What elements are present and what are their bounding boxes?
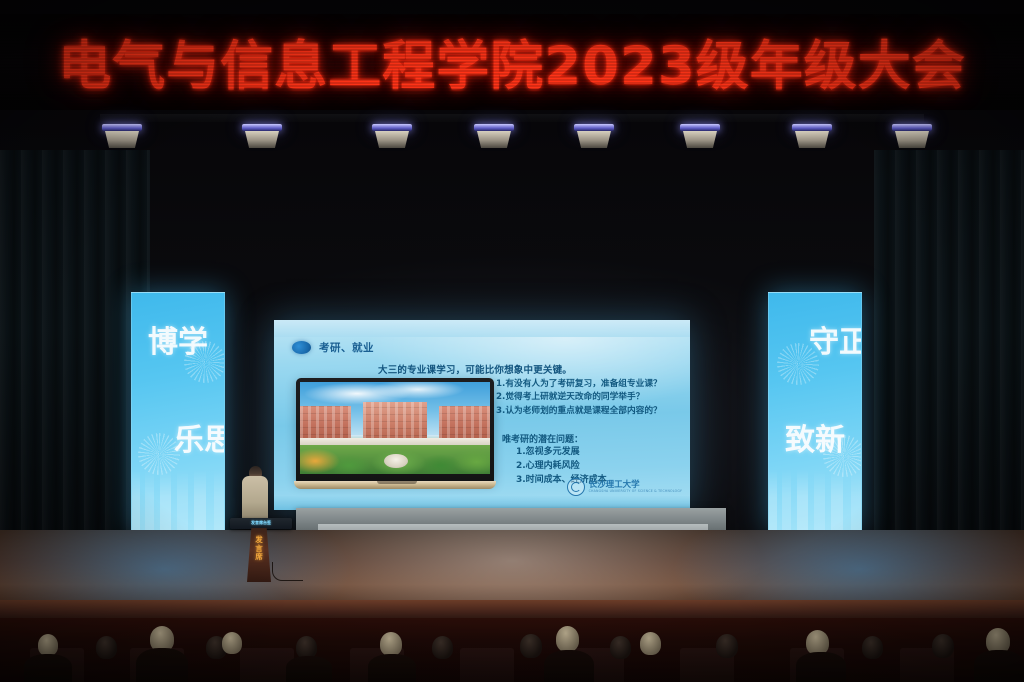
audience-head xyxy=(556,626,579,652)
lighting-truss xyxy=(100,112,924,158)
podium-and-speaker: 发言席台签 发言席 xyxy=(216,466,308,582)
pillar-right-line-bottom: 致新 xyxy=(769,425,862,457)
slide-question-item: 2.觉得考上研就逆天改命的同学举手？ xyxy=(496,391,662,404)
laptop-lid xyxy=(296,378,494,482)
seat-back xyxy=(460,648,514,682)
laptop-notch xyxy=(377,481,417,484)
bullet-dot-icon xyxy=(292,341,311,354)
nameplate-text: 发言席台签 xyxy=(251,520,271,526)
stage-curtain-left xyxy=(0,150,150,550)
audience-head xyxy=(862,636,883,659)
slide-subtitle: 大三的专业课学习，可能比你想象中更关键。 xyxy=(378,362,572,376)
presentation-slide: 考研、就业 大三的专业课学习，可能比你想象中更关键。 xyxy=(274,320,690,510)
led-pillar-right: 守正 致新 xyxy=(768,292,862,532)
pillar-left-line-bottom: 乐思 xyxy=(132,425,225,457)
audience-shoulders xyxy=(368,654,416,682)
university-name-en: CHANGSHA UNIVERSITY OF SCIENCE & TECHNOL… xyxy=(589,490,682,493)
par-light-icon xyxy=(370,124,414,150)
par-light-icon xyxy=(890,124,934,150)
audience-head xyxy=(432,636,453,659)
laptop-graphic xyxy=(296,378,498,492)
audience-shoulders xyxy=(544,650,594,682)
audience-shoulders xyxy=(286,656,332,682)
audience-shoulders xyxy=(974,650,1024,682)
slide-question-item: 1.有没有人为了考研复习，准备组专业课？ xyxy=(496,378,662,391)
university-name-block: 长沙理工大学 CHANGSHA UNIVERSITY OF SCIENCE & … xyxy=(589,481,682,493)
stage-curtain-right xyxy=(874,150,1024,550)
audience-head xyxy=(716,634,738,658)
audience-shoulders xyxy=(24,654,72,682)
truss-bar xyxy=(100,114,924,122)
slide-problem-item: 2.心理内耗风险 xyxy=(516,460,607,474)
audience-head xyxy=(38,634,58,656)
skyline-graphic xyxy=(769,469,861,531)
pillar-right-line-top: 守正 xyxy=(769,327,862,359)
auditorium-stage-photo: 电气与信息工程学院2023级年级大会 博学 乐思 守正 致新 考 xyxy=(0,0,1024,682)
slide-top-band xyxy=(274,320,690,337)
par-light-icon xyxy=(572,124,616,150)
slide-kicker-text: 考研、就业 xyxy=(319,340,374,355)
par-light-icon xyxy=(472,124,516,150)
pillar-left-line-top: 博学 xyxy=(132,327,225,359)
skyline-graphic xyxy=(132,469,224,531)
slide-question-item: 3.认为老师划的重点就是课程全部内容的？ xyxy=(496,405,662,418)
audience-shoulders xyxy=(136,648,188,682)
slide-kicker-row: 考研、就业 xyxy=(292,340,374,355)
campus-building-center xyxy=(363,402,428,442)
podium-nameplate: 发言席台签 xyxy=(235,520,287,526)
slide-problems-title: 唯考研的潜在问题： xyxy=(502,432,583,445)
speaker-body xyxy=(242,476,268,520)
led-pillar-left: 博学 乐思 xyxy=(131,292,225,532)
university-logo: 长沙理工大学 CHANGSHA UNIVERSITY OF SCIENCE & … xyxy=(567,478,682,496)
audience-head xyxy=(380,632,402,656)
podium-label: 发言席 xyxy=(252,536,266,562)
audience-area xyxy=(0,618,1024,682)
podium-cable xyxy=(272,562,303,581)
audience-head xyxy=(96,636,117,659)
par-light-icon xyxy=(790,124,834,150)
par-light-icon xyxy=(240,124,284,150)
audience-head xyxy=(222,632,242,654)
led-banner: 电气与信息工程学院2023级年级大会 xyxy=(0,14,1024,110)
audience-head xyxy=(610,636,631,659)
audience-head xyxy=(640,632,661,655)
par-light-icon xyxy=(678,124,722,150)
audience-head xyxy=(932,634,954,658)
university-emblem-icon xyxy=(567,478,585,496)
laptop-screen-photo xyxy=(300,382,490,474)
led-banner-text: 电气与信息工程学院2023级年级大会 xyxy=(58,24,966,100)
slide-problem-item: 1.忽视多元发展 xyxy=(516,446,607,460)
par-light-icon xyxy=(100,124,144,150)
audience-shoulders xyxy=(796,652,846,682)
projection-screen: 考研、就业 大三的专业课学习，可能比你想象中更关键。 xyxy=(274,320,690,510)
slide-question-list: 1.有没有人为了考研复习，准备组专业课？ 2.觉得考上研就逆天改命的同学举手？ … xyxy=(496,378,662,418)
audience-head xyxy=(520,634,542,658)
